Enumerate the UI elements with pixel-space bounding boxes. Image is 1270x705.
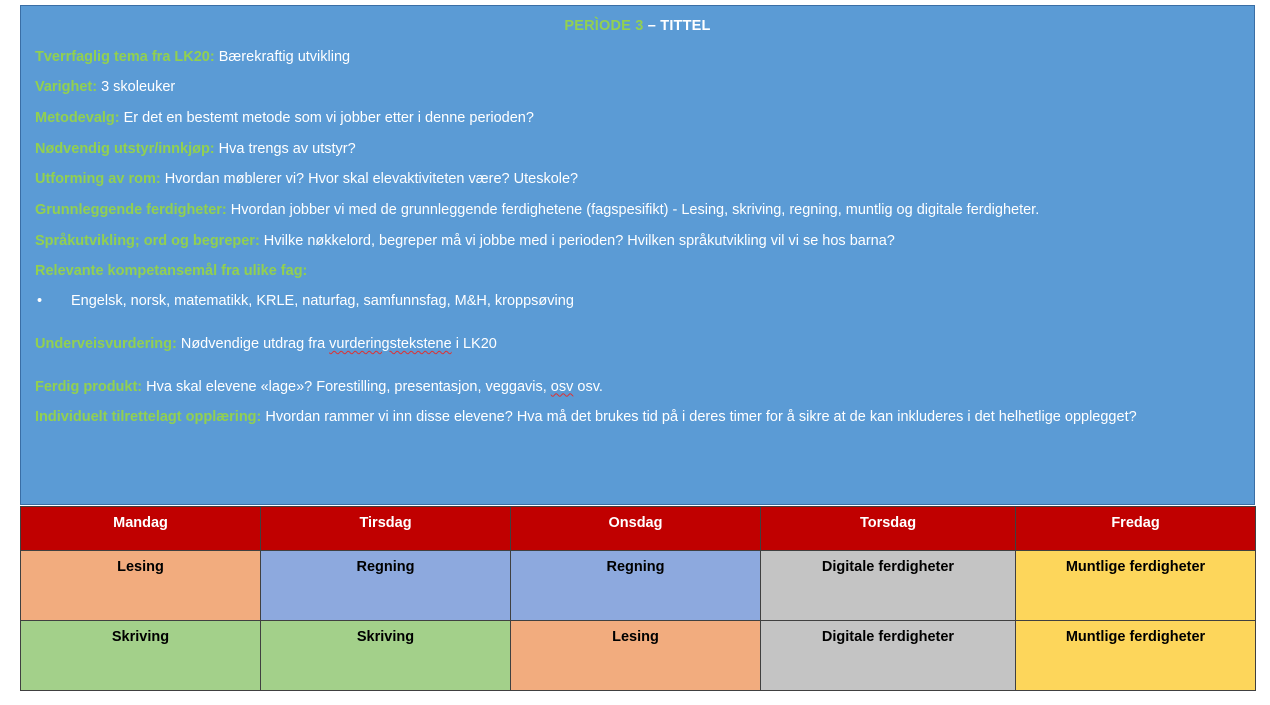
- field-label: Relevante kompetansemål fra ulike fag:: [35, 263, 307, 279]
- slide-canvas: PERÌODE 3 – TITTEL Tverrfaglig tema fra …: [0, 0, 1270, 705]
- spacer: [29, 323, 1246, 335]
- panel-title: PERÌODE 3 – TITTEL: [29, 12, 1246, 48]
- list-item-label: Engelsk, norsk, matematikk, KRLE, naturf…: [71, 293, 574, 309]
- field-value: Bærekraftig utvikling: [215, 49, 350, 65]
- field-value: Hvordan møblerer vi? Hvor skal elevaktiv…: [161, 171, 578, 187]
- field-tverrfaglig-tema: Tverrfaglig tema fra LK20: Bærekraftig u…: [35, 48, 1246, 67]
- schedule-cell: Digitale ferdigheter: [761, 621, 1016, 691]
- field-value: Hvordan rammer vi inn disse elevene? Hva…: [261, 409, 1136, 425]
- column-header-onsdag: Onsdag: [511, 507, 761, 551]
- table-row: Skriving Skriving Lesing Digitale ferdig…: [21, 621, 1256, 691]
- column-header-torsdag: Torsdag: [761, 507, 1016, 551]
- schedule-cell: Muntlige ferdigheter: [1016, 621, 1256, 691]
- field-value: Hva trengs av utstyr?: [215, 141, 356, 157]
- column-header-mandag: Mandag: [21, 507, 261, 551]
- spacer: [29, 366, 1246, 378]
- field-utforming-av-rom: Utforming av rom: Hvordan møblerer vi? H…: [35, 170, 1246, 189]
- column-header-fredag: Fredag: [1016, 507, 1256, 551]
- field-label: Grunnleggende ferdigheter:: [35, 202, 227, 218]
- schedule-cell: Muntlige ferdigheter: [1016, 551, 1256, 621]
- schedule-cell: Skriving: [21, 621, 261, 691]
- field-value-before: Hva skal elevene «lage»? Forestilling, p…: [142, 379, 551, 395]
- field-relevante-kompetansemal: Relevante kompetansemål fra ulike fag:: [35, 262, 1246, 281]
- table-header-row: Mandag Tirsdag Onsdag Torsdag Fredag: [21, 507, 1256, 551]
- field-label: Utforming av rom:: [35, 171, 161, 187]
- field-metodevalg: Metodevalg: Er det en bestemt metode som…: [35, 109, 1246, 128]
- field-value: 3 skoleuker: [97, 79, 175, 95]
- schedule-cell: Regning: [261, 551, 511, 621]
- schedule-cell: Regning: [511, 551, 761, 621]
- period-info-panel: PERÌODE 3 – TITTEL Tverrfaglig tema fra …: [20, 5, 1255, 505]
- field-value: Hvordan jobber vi med de grunnleggende f…: [227, 202, 1039, 218]
- field-value-after: i LK20: [452, 336, 497, 352]
- field-label: Språkutvikling; ord og begreper:: [35, 233, 260, 249]
- field-varighet: Varighet: 3 skoleuker: [35, 78, 1246, 97]
- table-row: Lesing Regning Regning Digitale ferdighe…: [21, 551, 1256, 621]
- field-label: Nødvendig utstyr/innkjøp:: [35, 141, 215, 157]
- spellcheck-word: vurderingstekstene: [329, 336, 452, 352]
- field-sprakutvikling: Språkutvikling; ord og begreper: Hvilke …: [35, 232, 1246, 251]
- field-individuelt-tilrettelagt: Individuelt tilrettelagt opplæring: Hvor…: [35, 408, 1246, 427]
- field-grunnleggende-ferdigheter: Grunnleggende ferdigheter: Hvordan jobbe…: [35, 201, 1246, 220]
- weekly-schedule-table: Mandag Tirsdag Onsdag Torsdag Fredag Les…: [20, 506, 1256, 691]
- field-label: Underveisvurdering:: [35, 336, 177, 352]
- schedule-cell: Lesing: [21, 551, 261, 621]
- list-item-fagliste: •Engelsk, norsk, matematikk, KRLE, natur…: [35, 292, 1246, 311]
- field-nodvendig-utstyr: Nødvendig utstyr/innkjøp: Hva trengs av …: [35, 140, 1246, 159]
- field-ferdig-produkt: Ferdig produkt: Hva skal elevene «lage»?…: [35, 378, 1246, 397]
- field-label: Varighet:: [35, 79, 97, 95]
- schedule-cell: Digitale ferdigheter: [761, 551, 1016, 621]
- panel-title-highlight: PERÌODE 3: [564, 18, 643, 34]
- field-value: Er det en bestemt metode som vi jobber e…: [120, 110, 534, 126]
- field-value-before: Nødvendige utdrag fra: [177, 336, 329, 352]
- field-label: Tverrfaglig tema fra LK20:: [35, 49, 215, 65]
- schedule-cell: Lesing: [511, 621, 761, 691]
- bullet-icon: •: [37, 292, 42, 311]
- field-label: Individuelt tilrettelagt opplæring:: [35, 409, 261, 425]
- column-header-tirsdag: Tirsdag: [261, 507, 511, 551]
- panel-title-rest: – TITTEL: [644, 18, 711, 34]
- field-label: Metodevalg:: [35, 110, 120, 126]
- spellcheck-word: osv: [551, 379, 574, 395]
- field-value: Hvilke nøkkelord, begreper må vi jobbe m…: [260, 233, 895, 249]
- schedule-cell: Skriving: [261, 621, 511, 691]
- field-underveisvurdering: Underveisvurdering: Nødvendige utdrag fr…: [35, 335, 1246, 354]
- field-label: Ferdig produkt:: [35, 379, 142, 395]
- field-value-after: osv.: [573, 379, 603, 395]
